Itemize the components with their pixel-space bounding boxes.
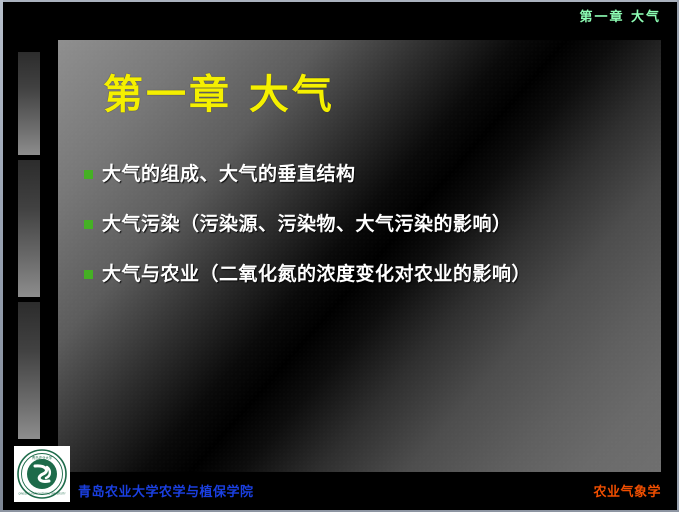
bullet-item-label: 大气的组成、大气的垂直结构 (102, 160, 356, 188)
running-header: 第一章 大气 (579, 6, 661, 25)
list-item: 大气的组成、大气的垂直结构 (84, 160, 644, 188)
bullet-item-label: 大气与农业（二氧化氮的浓度变化对农业的影响） (102, 260, 531, 288)
footer-institution-label: 青岛农业大学农学与植保学院 (78, 481, 254, 500)
svg-text:青岛农业大学: 青岛农业大学 (32, 455, 53, 460)
slide-title: 第一章 大气 (103, 62, 335, 120)
decorative-sidebar-bar-2 (18, 160, 40, 297)
footer-course-label: 农业气象学 (593, 481, 661, 500)
decorative-sidebar-bar-1 (18, 52, 40, 155)
list-item: 大气污染（污染源、污染物、大气污染的影响） (84, 210, 644, 238)
bullet-square-icon (84, 270, 93, 279)
svg-text:QINGDAO AGRICULTURAL UNIVERSIT: QINGDAO AGRICULTURAL UNIVERSITY (18, 492, 66, 496)
slide-frame-left (0, 0, 3, 512)
bullet-list: 大气的组成、大气的垂直结构 大气污染（污染源、污染物、大气污染的影响） 大气与农… (84, 160, 644, 310)
slide-content-panel: 第一章 大气 大气的组成、大气的垂直结构 大气污染（污染源、污染物、大气污染的影… (58, 40, 661, 472)
slide-frame-top (0, 0, 679, 2)
list-item: 大气与农业（二氧化氮的浓度变化对农业的影响） (84, 260, 644, 288)
bullet-square-icon (84, 220, 93, 229)
bullet-square-icon (84, 170, 93, 179)
bullet-item-label: 大气污染（污染源、污染物、大气污染的影响） (102, 210, 512, 238)
decorative-sidebar-bar-3 (18, 302, 40, 439)
presentation-slide: 第一章 大气 第一章 大气 大气的组成、大气的垂直结构 大气污染（污染源、污染物… (0, 0, 679, 512)
